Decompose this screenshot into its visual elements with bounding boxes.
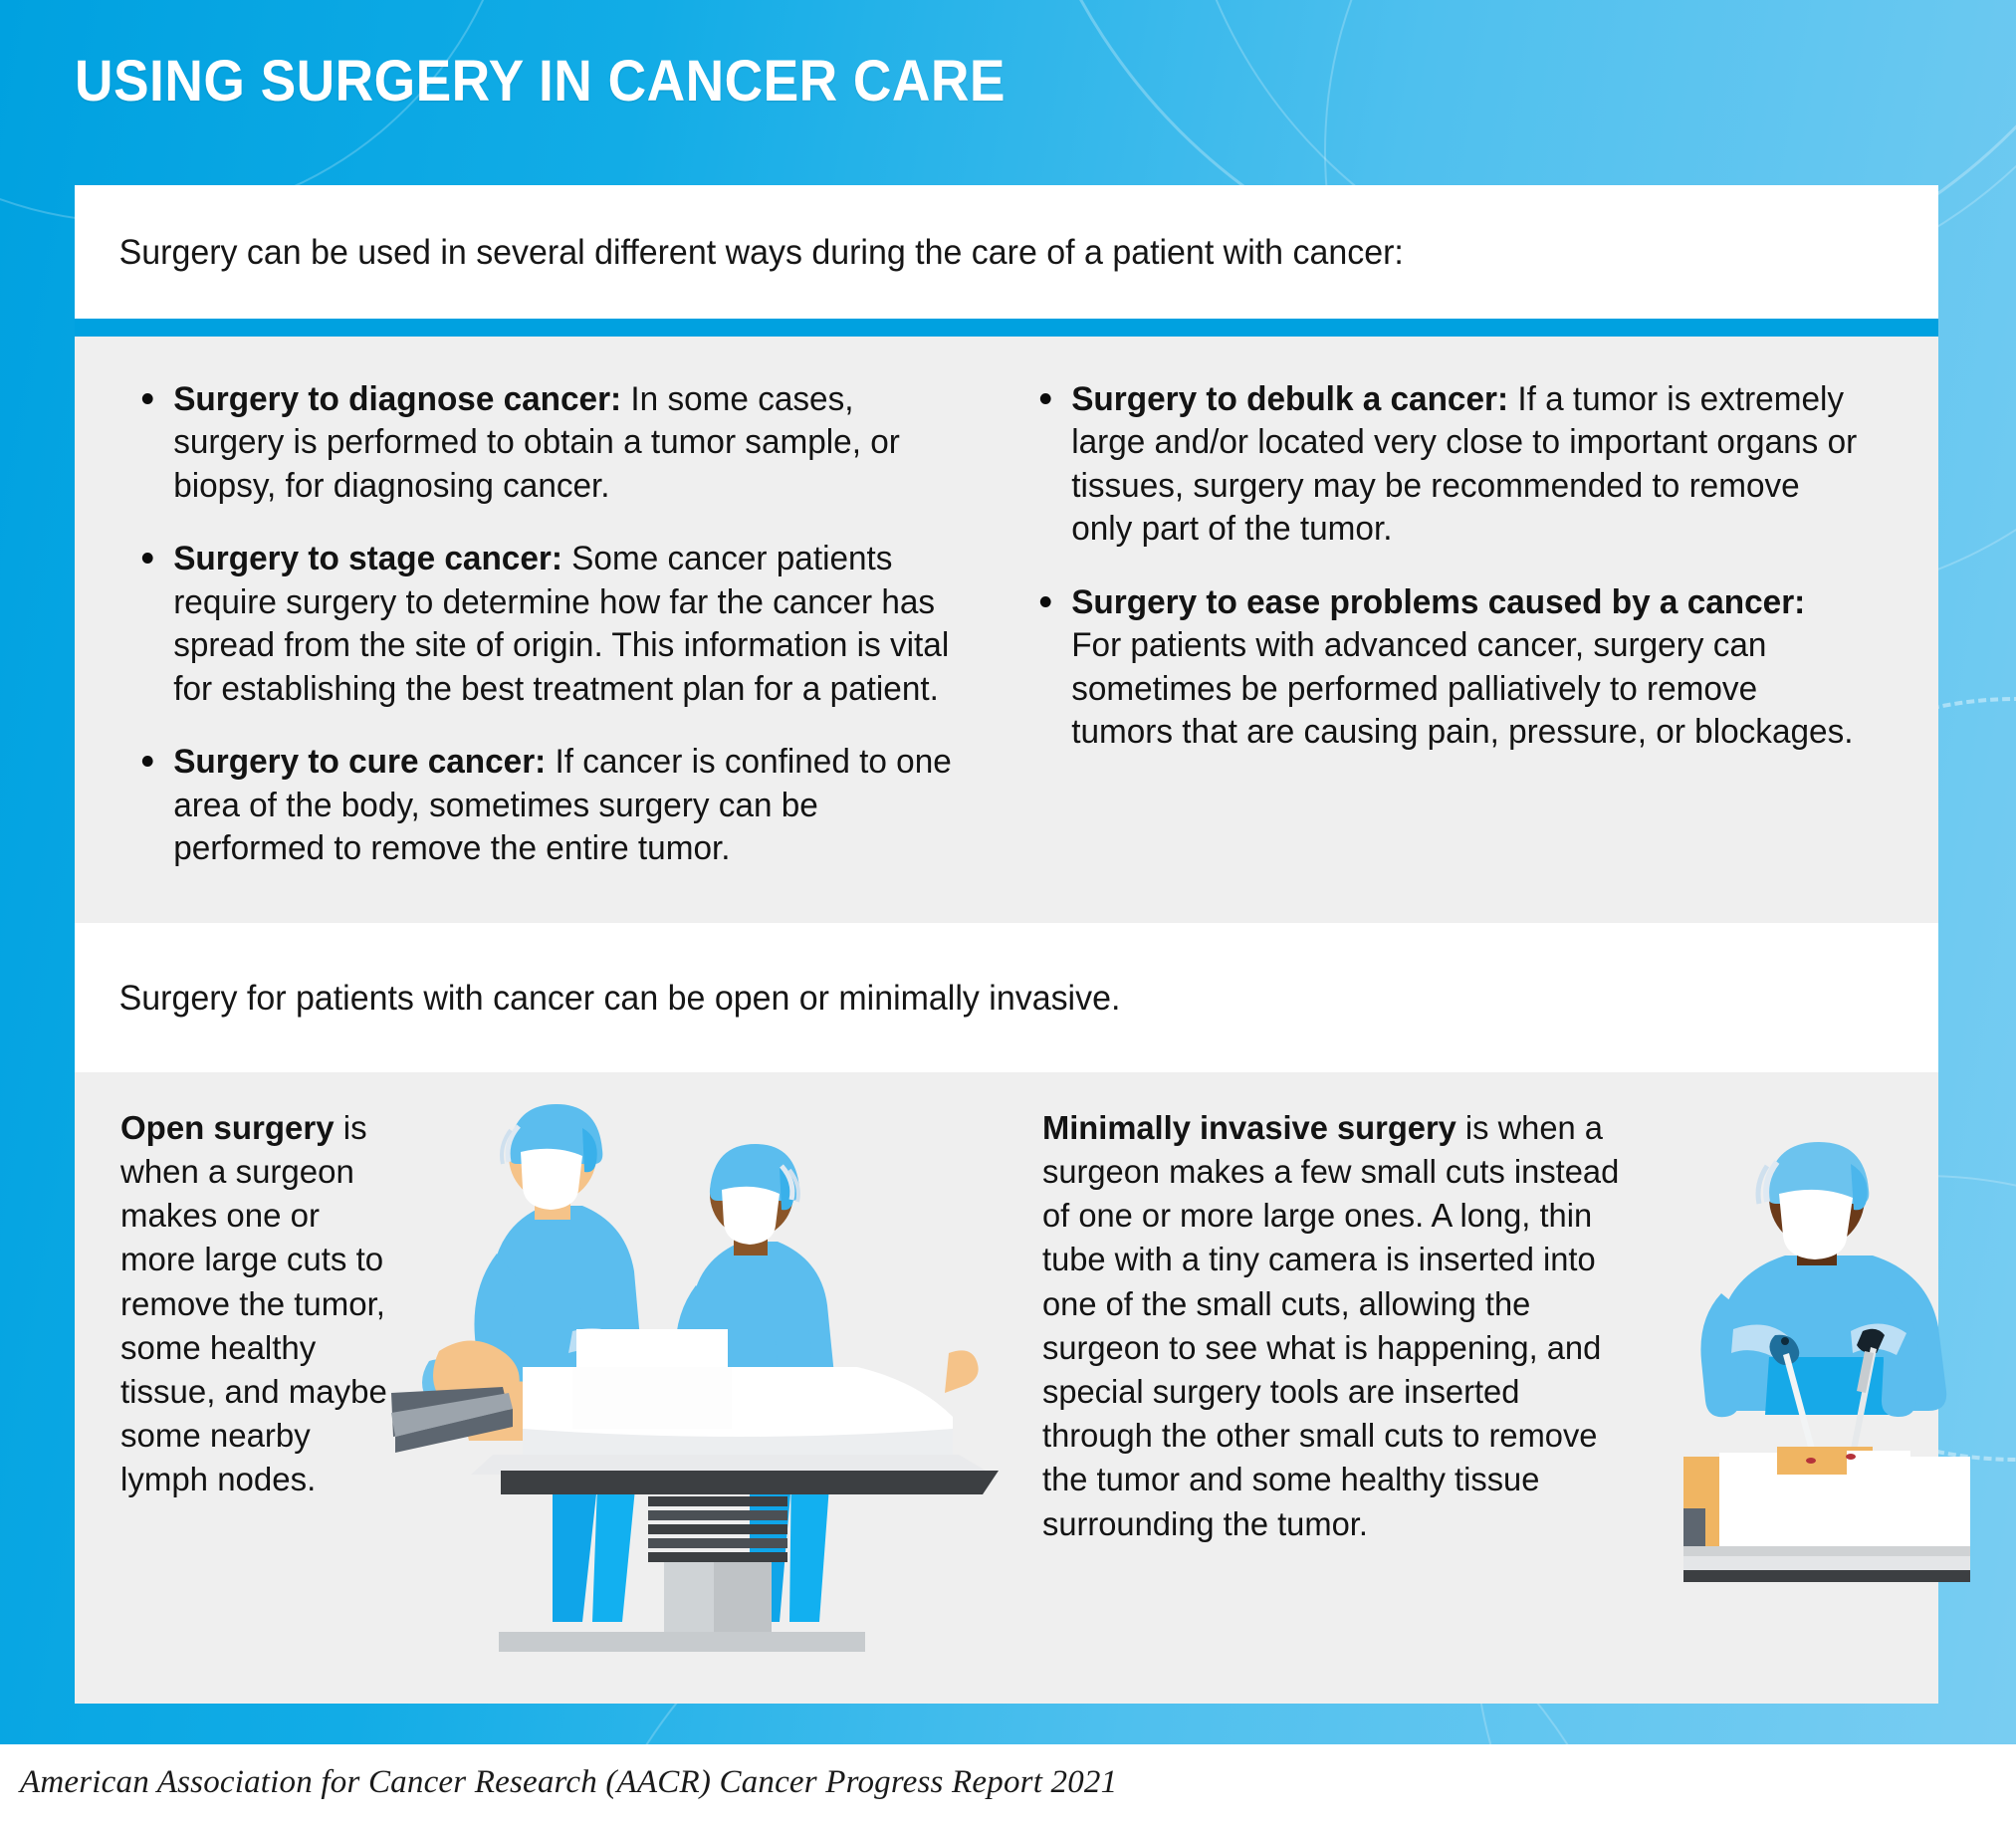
open-surgery-caption: Open surgery is when a surgeon makes one… [120, 1106, 387, 1664]
minimally-invasive-surgery-illustration [1640, 1106, 1938, 1664]
minimally-invasive-body: is when a surgeon makes a few small cuts… [1042, 1109, 1619, 1542]
source-attribution: American Association for Cancer Research… [20, 1764, 1117, 1801]
bullet-body: For patients with advanced cancer, surge… [1071, 626, 1853, 751]
list-item: Surgery to ease problems caused by a can… [1032, 581, 1862, 755]
open-surgery-column: Open surgery is when a surgeon makes one… [75, 1106, 1007, 1664]
bullets-panel: Surgery to diagnose cancer: In some case… [75, 337, 1938, 923]
bullet-lead: Surgery to stage cancer: [173, 540, 562, 577]
illustration-panel: Open surgery is when a surgeon makes one… [75, 1072, 1938, 1704]
open-surgery-illustration [387, 1106, 1007, 1664]
bullet-dot-icon [142, 756, 153, 767]
list-item: Surgery to diagnose cancer: In some case… [134, 378, 964, 509]
bullet-lead: Surgery to cure cancer: [173, 743, 546, 781]
list-item: Surgery to debulk a cancer: If a tumor i… [1032, 378, 1862, 552]
bullet-lead: Surgery to ease problems caused by a can… [1071, 583, 1805, 621]
minimally-invasive-lead: Minimally invasive surgery [1042, 1109, 1456, 1146]
bullets-column-left: Surgery to diagnose cancer: In some case… [109, 378, 1007, 871]
page-title: USING SURGERY IN CANCER CARE [75, 48, 1006, 114]
mid-statement-text: Surgery for patients with cancer can be … [75, 923, 1883, 1072]
list-item: Surgery to stage cancer: Some cancer pat… [134, 538, 964, 711]
intro-band: Surgery can be used in several different… [75, 185, 1938, 319]
bullet-dot-icon [142, 553, 153, 564]
minimally-invasive-caption: Minimally invasive surgery is when a sur… [1042, 1106, 1634, 1664]
content-stack: Surgery can be used in several different… [75, 185, 1938, 1704]
bullet-lead: Surgery to diagnose cancer: [173, 380, 621, 418]
mid-statement-band: Surgery for patients with cancer can be … [75, 923, 1938, 1072]
open-surgery-body: is when a surgeon makes one or more larg… [120, 1109, 387, 1498]
bullet-dot-icon [142, 393, 153, 404]
intro-text: Surgery can be used in several different… [75, 185, 1883, 319]
bullets-column-right: Surgery to debulk a cancer: If a tumor i… [1007, 378, 1904, 871]
minimally-invasive-column: Minimally invasive surgery is when a sur… [1007, 1106, 1938, 1664]
bullet-dot-icon [1040, 596, 1051, 607]
bullet-lead: Surgery to debulk a cancer: [1071, 380, 1508, 418]
band-separator-1 [75, 319, 1938, 337]
bullet-dot-icon [1040, 393, 1051, 404]
list-item: Surgery to cure cancer: If cancer is con… [134, 741, 964, 871]
open-surgery-lead: Open surgery [120, 1109, 335, 1146]
